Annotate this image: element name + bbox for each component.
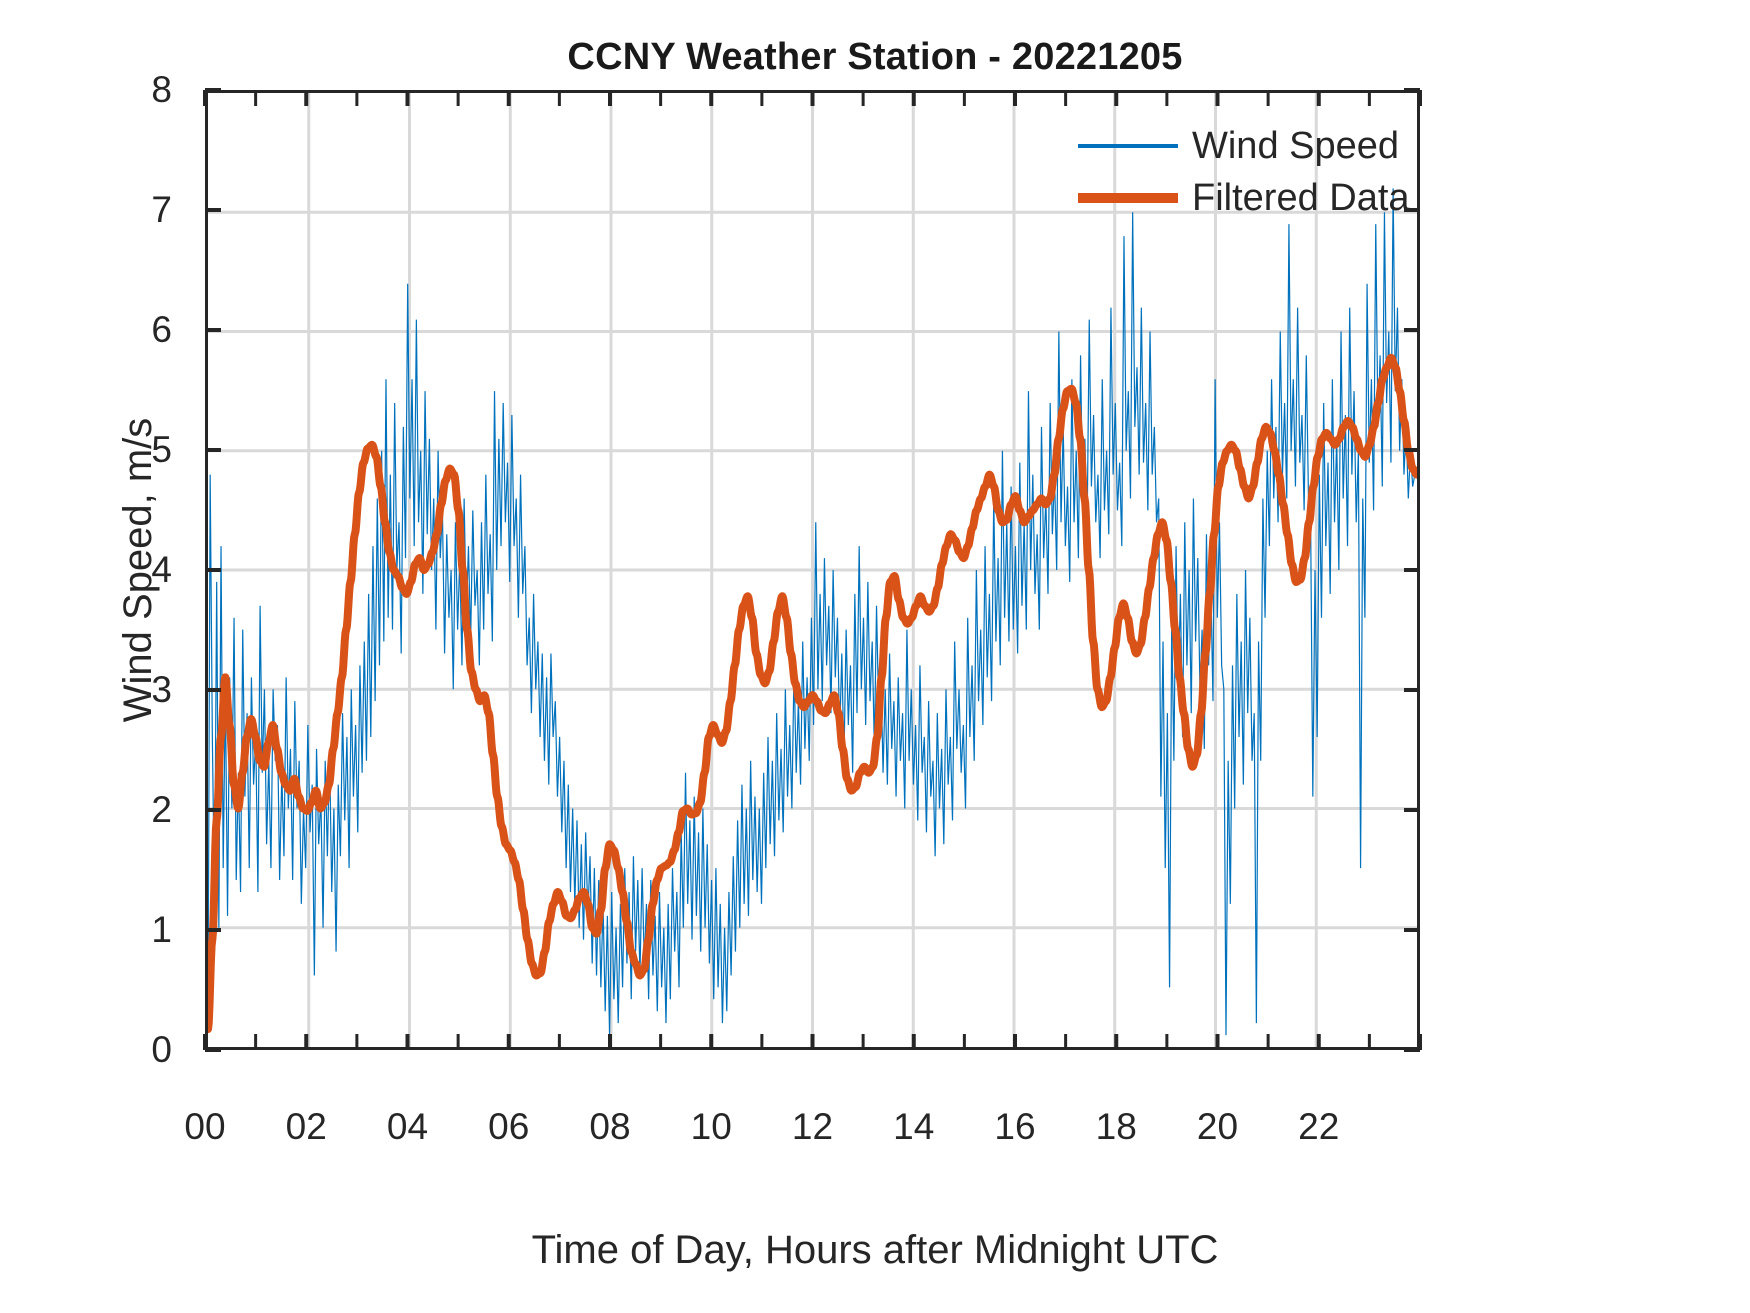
x-tick-label: 22 — [1298, 1106, 1339, 1148]
legend-item: Wind Speed — [1078, 120, 1418, 172]
x-tick-label: 00 — [184, 1106, 225, 1148]
x-tick-label: 14 — [893, 1106, 934, 1148]
axis-tick-marks — [205, 90, 1420, 1090]
chart-legend: Wind Speed Filtered Data — [1078, 116, 1418, 230]
y-tick-label: 4 — [151, 549, 172, 591]
y-tick-label: 7 — [151, 189, 172, 231]
y-axis-tick-labels: 012345678 — [0, 90, 190, 1050]
chart-figure: CCNY Weather Station - 20221205 Wind Spe… — [0, 0, 1750, 1313]
x-axis-label: Time of Day, Hours after Midnight UTC — [0, 1228, 1750, 1273]
x-tick-label: 18 — [1096, 1106, 1137, 1148]
x-tick-label: 16 — [994, 1106, 1035, 1148]
x-tick-label: 04 — [387, 1106, 428, 1148]
legend-item: Filtered Data — [1078, 172, 1418, 224]
x-tick-label: 10 — [691, 1106, 732, 1148]
legend-line-swatch-filtered-data — [1078, 193, 1178, 203]
y-tick-label: 6 — [151, 309, 172, 351]
x-tick-label: 06 — [488, 1106, 529, 1148]
legend-label: Filtered Data — [1192, 177, 1410, 220]
x-tick-label: 12 — [792, 1106, 833, 1148]
y-tick-label: 0 — [151, 1029, 172, 1071]
page-title: CCNY Weather Station - 20221205 — [0, 36, 1750, 79]
legend-line-swatch-wind-speed — [1078, 144, 1178, 148]
y-tick-label: 3 — [151, 669, 172, 711]
legend-label: Wind Speed — [1192, 125, 1399, 168]
x-tick-label: 02 — [286, 1106, 327, 1148]
y-tick-label: 2 — [151, 789, 172, 831]
x-tick-label: 08 — [589, 1106, 630, 1148]
y-tick-label: 8 — [151, 69, 172, 111]
y-tick-label: 5 — [151, 429, 172, 471]
y-tick-label: 1 — [151, 909, 172, 951]
x-axis-tick-labels: 000204060810121416182022 — [205, 1062, 1420, 1122]
x-tick-label: 20 — [1197, 1106, 1238, 1148]
